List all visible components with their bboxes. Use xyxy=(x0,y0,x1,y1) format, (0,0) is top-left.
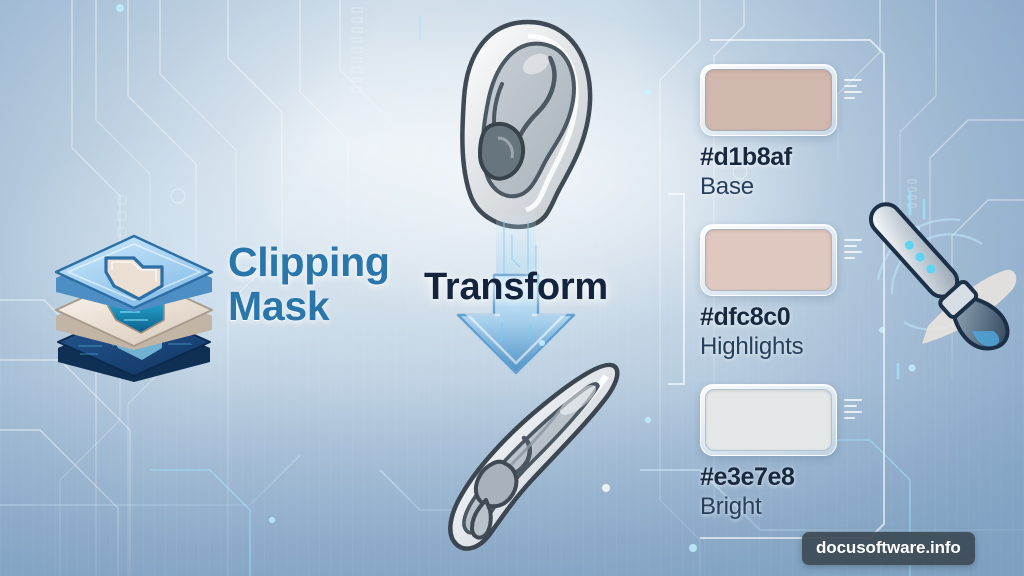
swatch-group-base[interactable]: #d1b8af Base xyxy=(700,64,890,201)
swatch-hex-base: #d1b8af xyxy=(700,143,890,172)
swatch-chip-base[interactable] xyxy=(700,64,837,136)
swatch-fill-highlights xyxy=(705,229,832,291)
transform-label: Transform xyxy=(396,266,636,309)
swatch-chip-highlights[interactable] xyxy=(700,224,837,296)
swatch-fill-base xyxy=(705,69,832,131)
watermark-badge: docusoftware.info xyxy=(802,532,975,565)
swatch-chip-bright[interactable] xyxy=(700,384,837,456)
swatch-group-bright[interactable]: #e3e7e8 Bright xyxy=(700,384,890,521)
swatch-tick-marks xyxy=(844,399,862,423)
swatch-tick-marks xyxy=(844,79,862,103)
swatch-fill-bright xyxy=(705,389,832,451)
elf-ear-icon xyxy=(428,352,634,556)
layer-stack-icon xyxy=(44,186,224,386)
clipping-mask-label-line1: Clipping xyxy=(228,239,390,285)
paintbrush-icon xyxy=(862,186,1024,382)
swatch-hex-bright: #e3e7e8 xyxy=(700,463,890,492)
color-swatch-panel: #d1b8af Base #dfc8c0 Highlights #e3e7e8 … xyxy=(640,24,890,554)
infographic-canvas: Clipping Mask xyxy=(0,0,1024,576)
swatch-tick-marks xyxy=(844,239,862,263)
human-ear-icon xyxy=(432,16,608,232)
swatch-name-bright: Bright xyxy=(700,493,890,521)
